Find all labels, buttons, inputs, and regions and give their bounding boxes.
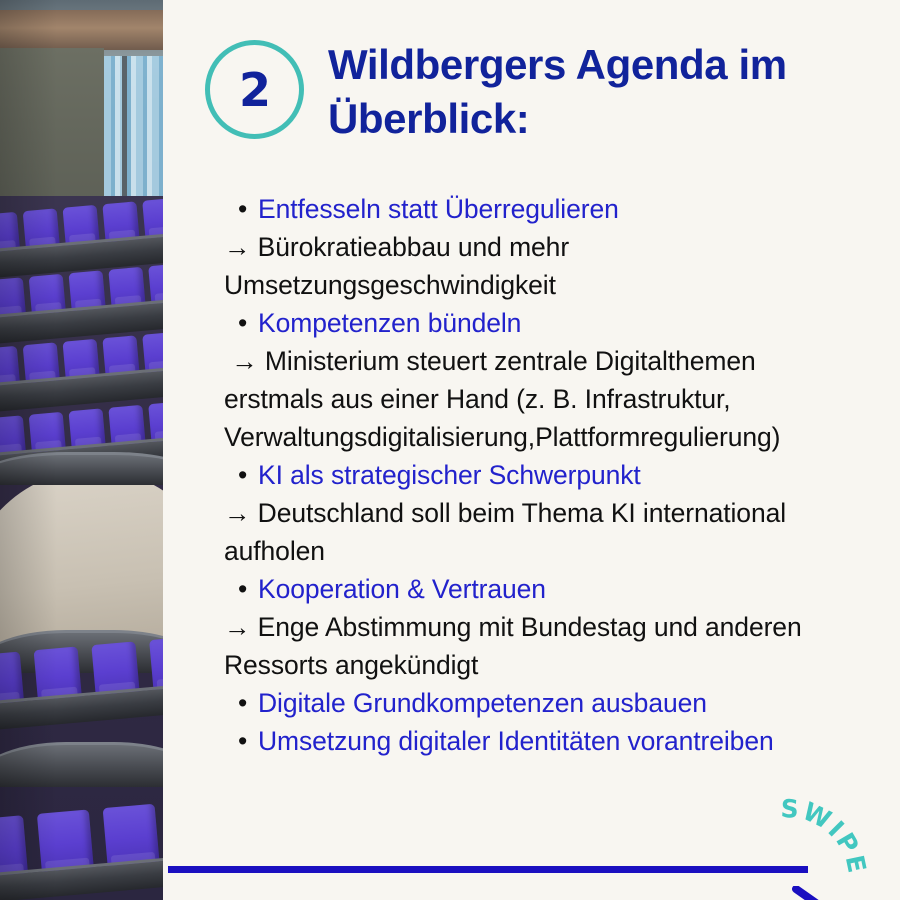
photo-window — [104, 56, 163, 201]
seat-row — [0, 648, 163, 722]
agenda-bullet-item: •KI als strategischer Schwerpunkt — [224, 456, 874, 494]
photo-rail — [0, 742, 163, 787]
agenda-detail-line: → Ministerium steuert zentrale Digitalth… — [224, 342, 874, 380]
bullet-marker: • — [238, 684, 247, 722]
agenda-bullet-text: KI als strategischer Schwerpunkt — [258, 460, 641, 490]
agenda-bullet-item: •Kooperation & Vertrauen — [224, 570, 874, 608]
seat-row — [0, 820, 163, 894]
agenda-bullet-item: •Entfesseln statt Überregulieren — [224, 190, 874, 228]
agenda-bullet-text: Kompetenzen bündeln — [258, 308, 521, 338]
photo-wall — [0, 48, 104, 200]
agenda-bullet-text: Kooperation & Vertrauen — [258, 574, 546, 604]
agenda-bullet-text: Umsetzung digitaler Identitäten vorantre… — [258, 726, 774, 756]
swipe-label-wrap: SWIPE — [770, 794, 882, 894]
agenda-detail-line: → Deutschland soll beim Thema KI interna… — [224, 494, 874, 532]
carousel-slide: 2 Wildbergers Agenda im Überblick: •Entf… — [0, 0, 900, 900]
agenda-detail-line: erstmals aus einer Hand (z. B. Infrastru… — [224, 380, 874, 418]
agenda-bullet-text: Digitale Grundkompetenzen ausbauen — [258, 688, 707, 718]
swipe-text: SWIPE — [780, 794, 872, 877]
swipe-arrow-line — [168, 866, 808, 873]
page-title: Wildbergers Agenda im Überblick: — [328, 38, 848, 146]
slide-header: 2 Wildbergers Agenda im Überblick: — [205, 36, 865, 146]
agenda-detail-line: → Bürokratieabbau und mehr — [224, 228, 874, 266]
agenda-bullet-item: •Kompetenzen bündeln — [224, 304, 874, 342]
bullet-marker: • — [238, 570, 247, 608]
seat-row — [0, 330, 163, 404]
bundestag-plenary-photo — [0, 0, 163, 900]
bullet-marker: • — [238, 190, 247, 228]
agenda-detail-line: Umsetzungsgeschwindigkeit — [224, 266, 874, 304]
step-number: 2 — [239, 67, 270, 113]
agenda-detail-line: Verwaltungsdigitalisierung,Plattformregu… — [224, 418, 874, 456]
bullet-marker: • — [238, 456, 247, 494]
agenda-list: •Entfesseln statt Überregulieren→ Bürokr… — [224, 190, 874, 760]
agenda-detail-line: aufholen — [224, 532, 874, 570]
photo-rail — [0, 452, 163, 485]
seat-row — [0, 262, 163, 336]
bullet-marker: • — [238, 722, 247, 760]
agenda-bullet-text: Entfesseln statt Überregulieren — [258, 194, 619, 224]
agenda-detail-line: Ressorts angekündigt — [224, 646, 874, 684]
photo-wood-beam — [0, 10, 163, 50]
agenda-bullet-item: •Umsetzung digitaler Identitäten vorantr… — [224, 722, 874, 760]
agenda-bullet-item: •Digitale Grundkompetenzen ausbauen — [224, 684, 874, 722]
bullet-marker: • — [238, 304, 247, 342]
agenda-detail-line: → Enge Abstimmung mit Bundestag und ande… — [224, 608, 874, 646]
step-number-badge: 2 — [205, 40, 304, 139]
